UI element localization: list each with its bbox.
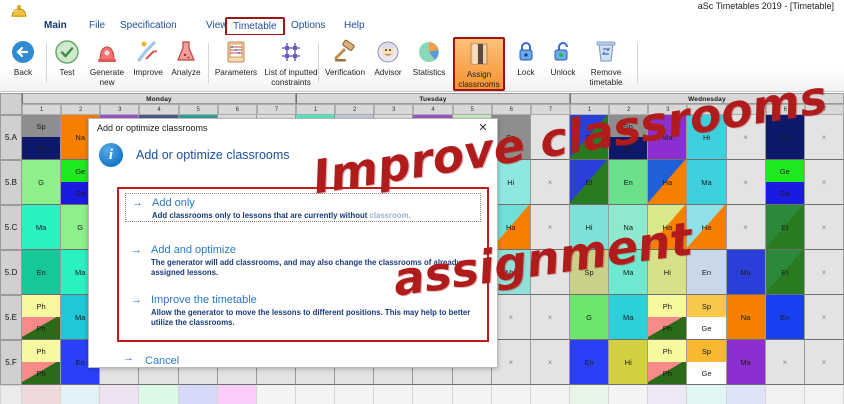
icon-wrap [167, 37, 205, 67]
empty-cell-marker: × [531, 340, 569, 384]
timetable-cell[interactable]: × [453, 385, 492, 404]
lesson-block[interactable]: Ph [766, 385, 804, 404]
timetable-cell[interactable]: × [335, 385, 374, 404]
timetable-cell[interactable]: × [805, 385, 844, 404]
app-title: aSc Timetables 2019 - [Timetable] [698, 1, 834, 11]
icon-wrap [455, 39, 503, 69]
dialog-title: Add or optimize classrooms [97, 123, 208, 133]
row-header-5-e: 5.E [0, 295, 22, 340]
menu-bar[interactable]: MainFileSpecificationViewTimetableOption… [0, 17, 844, 35]
arrow-icon: → [131, 245, 142, 256]
empty-cell-marker: × [531, 205, 569, 249]
lesson-block[interactable]: Hi [648, 250, 686, 294]
lesson-block[interactable]: Na [727, 295, 765, 339]
lock-open-icon [549, 38, 577, 66]
icon-wrap [508, 37, 544, 67]
icon-wrap [544, 37, 582, 67]
timetable-cell[interactable]: En [570, 340, 609, 385]
timetable-cell[interactable]: Et [766, 250, 805, 295]
period-header: 2 [609, 104, 648, 115]
icon-wrap [212, 37, 260, 67]
toolbar-button-label: Assign classrooms [455, 70, 503, 89]
add-or-optimize-classrooms-dialog[interactable]: Add or optimize classrooms ✕ i Add or op… [88, 118, 498, 368]
lesson-block[interactable]: En [61, 385, 99, 404]
toolbar-button-unlock[interactable]: Unlock [544, 37, 582, 91]
timetable-cell[interactable]: × [805, 295, 844, 340]
timetable-cell[interactable]: Ha [648, 205, 687, 250]
timetable-cell[interactable]: × [531, 205, 570, 250]
gavel-icon [331, 38, 359, 66]
icon-wrap [368, 37, 408, 67]
trash-icon [592, 38, 620, 66]
empty-cell-marker: × [453, 385, 491, 404]
menu-item-help[interactable]: Help [338, 18, 371, 34]
row-header-5-c: 5.C [0, 205, 22, 250]
period-header: 5 [727, 104, 766, 115]
day-header-tuesday: Tuesday [296, 93, 570, 104]
timetable-cell[interactable]: En [609, 160, 648, 205]
empty-cell-marker: × [609, 385, 647, 404]
timetable-cell[interactable]: Ge [570, 385, 609, 404]
lesson-block[interactable]: Ge [687, 362, 725, 384]
period-header: 4 [413, 104, 452, 115]
empty-cell-marker: × [805, 385, 843, 404]
lesson-block[interactable]: Ph [22, 340, 60, 362]
timetable-cell[interactable]: En [61, 385, 100, 404]
empty-cell-marker: × [492, 385, 530, 404]
lesson-block[interactable]: Hi [687, 115, 725, 159]
timetable-cell[interactable]: PhPh [648, 340, 687, 385]
siren-icon [93, 38, 121, 66]
empty-cell-marker: × [257, 385, 295, 404]
timetable-cell[interactable]: PhPh [22, 295, 61, 340]
timetable-cell[interactable]: Sp [100, 385, 139, 404]
app-window: aSc Timetables 2019 - [Timetable] MainFi… [0, 0, 844, 404]
period-header: 4 [687, 104, 726, 115]
timetable-cell[interactable]: Na [727, 295, 766, 340]
timetable-cell[interactable]: Ma [609, 295, 648, 340]
toolbar-separator [46, 43, 47, 83]
lesson-block[interactable]: Na [609, 205, 647, 249]
timetable-cell[interactable]: En [22, 250, 61, 295]
timetable-cell[interactable]: × [531, 160, 570, 205]
period-header: 3 [374, 104, 413, 115]
lesson-block[interactable]: Ma [609, 250, 647, 294]
lesson-block[interactable]: Ge [687, 317, 725, 339]
lesson-block[interactable]: So [179, 385, 217, 404]
toolbar-button-label: Remove timetable [582, 68, 630, 87]
timetable-cell[interactable]: × [531, 115, 570, 160]
timetable-cell[interactable]: Hi [687, 385, 726, 404]
timetable-cell[interactable]: Na [609, 205, 648, 250]
timetable-cell[interactable]: × [727, 205, 766, 250]
timetable-cell[interactable]: × [257, 385, 296, 404]
lesson-block[interactable]: Ge [766, 182, 804, 204]
row-header-6-a: 6.A [0, 385, 22, 404]
timetable-cell[interactable]: PhPh [22, 340, 61, 385]
lesson-block[interactable]: Ma [727, 340, 765, 384]
option-description: The generator will add classrooms, and m… [151, 258, 481, 278]
arrow-icon: → [132, 198, 143, 209]
option-title: Add only [152, 197, 480, 210]
lesson-block[interactable]: Ge [766, 160, 804, 182]
lesson-block[interactable]: Ph [648, 385, 686, 404]
toolbar-button-label: Unlock [544, 68, 582, 78]
timetable-cell[interactable]: × [413, 385, 452, 404]
period-header: 2 [335, 104, 374, 115]
lesson-block[interactable]: Ph [22, 385, 60, 404]
icon-wrap [582, 37, 630, 67]
timetable-cell[interactable]: Hi [570, 205, 609, 250]
toolbar-button-advisor[interactable]: Advisor [368, 37, 408, 91]
period-header: 3 [648, 104, 687, 115]
toolbar-button-statistics[interactable]: Statistics [408, 37, 450, 91]
escalator-icon [134, 38, 162, 66]
toolbar-separator [318, 43, 319, 83]
lesson-block[interactable]: Ph [648, 295, 686, 317]
lesson-block[interactable]: En [609, 160, 647, 204]
empty-cell-marker: × [766, 340, 804, 384]
timetable-cell[interactable]: PhPh [648, 295, 687, 340]
toolbar-button-label: Back [4, 68, 42, 78]
toolbar-button-improve[interactable]: Improve [129, 37, 167, 91]
lesson-block[interactable]: Et [570, 115, 608, 159]
timetable-cell[interactable]: Et [570, 115, 609, 160]
lesson-block[interactable]: Et [570, 160, 608, 204]
timetable-cell[interactable]: SpGe [687, 340, 726, 385]
empty-cell-marker: × [413, 385, 451, 404]
timetable-cell[interactable]: Hi [218, 385, 257, 404]
timetable-cell[interactable]: En [687, 250, 726, 295]
period-header: 6 [766, 104, 805, 115]
empty-cell-marker: × [805, 160, 843, 204]
grid-corner [0, 93, 22, 115]
timetable-cell[interactable]: SpSp [22, 115, 61, 160]
period-header: 5 [453, 104, 492, 115]
timetable-cell[interactable]: GeGe [766, 160, 805, 205]
timetable-cell[interactable]: × [296, 385, 335, 404]
option-title: Improve the timetable [151, 294, 481, 307]
timetable-cell[interactable]: × [805, 340, 844, 385]
timetable-cell[interactable]: G [22, 160, 61, 205]
lesson-block[interactable]: Sp [609, 137, 647, 159]
lesson-block[interactable]: Hi [687, 385, 725, 404]
back-arrow-icon [9, 38, 37, 66]
empty-cell-marker: × [531, 250, 569, 294]
icon-wrap [4, 37, 42, 67]
toolbar-button-label: Lock [508, 68, 544, 78]
timetable-cell[interactable]: Ma [22, 205, 61, 250]
timetable-cell[interactable]: × [531, 295, 570, 340]
period-header: 1 [22, 104, 61, 115]
lesson-block[interactable]: Sp [687, 340, 725, 362]
icon-wrap [50, 37, 84, 67]
option-description: Allow the generator to move the lessons … [151, 308, 481, 328]
timetable-cell[interactable]: So [179, 385, 218, 404]
menu-item-file[interactable]: File [83, 18, 111, 34]
advisor-face-icon [374, 38, 402, 66]
lesson-block[interactable]: En [570, 340, 608, 384]
lesson-block[interactable]: Et [766, 250, 804, 294]
lesson-block[interactable]: En [766, 115, 804, 159]
timetable-cell[interactable]: G [570, 295, 609, 340]
info-icon: i [99, 143, 123, 167]
option-description-dim: classroom. [370, 211, 411, 220]
timetable-cell[interactable]: En [766, 115, 805, 160]
icon-wrap [408, 37, 450, 67]
lesson-block[interactable]: Hi [609, 340, 647, 384]
empty-cell-marker: × [727, 115, 765, 159]
menu-item-specification[interactable]: Specification [114, 18, 183, 34]
toolbar-button-verification[interactable]: Verification [322, 37, 368, 91]
timetable-cell[interactable]: × [609, 385, 648, 404]
day-header-wednesday: Wednesday [570, 93, 844, 104]
dialog-option-improve-the-timetable[interactable]: →Improve the timetableAllow the generato… [125, 291, 481, 328]
timetable-cell[interactable]: SpGe [687, 295, 726, 340]
title-bar: aSc Timetables 2019 - [Timetable] [0, 0, 844, 16]
row-header-5-b: 5.B [0, 160, 22, 205]
toolbar-button-label: Improve [129, 68, 167, 78]
timetable-cell[interactable]: Et [766, 205, 805, 250]
toolbar-button-back[interactable]: Back [4, 37, 42, 91]
dialog-header: i Add or optimize classrooms [99, 143, 290, 167]
period-header: 7 [805, 104, 844, 115]
period-header: 6 [492, 104, 531, 115]
timetable-cell[interactable]: Mu [727, 250, 766, 295]
timetable-cell[interactable]: Ph [766, 385, 805, 404]
timetable-cell[interactable]: × [531, 340, 570, 385]
empty-cell-marker: × [805, 295, 843, 339]
lesson-block[interactable]: Hi [570, 205, 608, 249]
lesson-block[interactable]: Sp [22, 137, 60, 159]
timetable-cell[interactable]: × [531, 385, 570, 404]
toolbar-button-label: Generate new [85, 68, 129, 87]
lesson-block[interactable]: Ma [648, 115, 686, 159]
timetable-cell[interactable]: × [805, 160, 844, 205]
lesson-block[interactable]: Et [766, 205, 804, 249]
toolbar-button-parameters[interactable]: Parameters [212, 37, 260, 91]
empty-cell-marker: × [531, 115, 569, 159]
pie-chart-icon [415, 38, 443, 66]
lesson-block[interactable]: Ge [570, 385, 608, 404]
timetable-cell[interactable]: × [805, 250, 844, 295]
icon-wrap [260, 37, 322, 67]
empty-cell-marker: × [805, 205, 843, 249]
grid-nodes-icon [277, 38, 305, 66]
row-header-5-a: 5.A [0, 115, 22, 160]
lesson-block[interactable]: Sp [609, 115, 647, 137]
period-header: 3 [100, 104, 139, 115]
timetable-cell[interactable]: En [766, 295, 805, 340]
timetable-cell[interactable]: Ma [139, 385, 178, 404]
toolbar-button-analyze[interactable]: Analyze [167, 37, 205, 91]
lesson-block[interactable]: G [22, 160, 60, 204]
lesson-block[interactable]: Ph [648, 362, 686, 384]
period-header: 7 [257, 104, 296, 115]
dialog-option-add-only[interactable]: →Add onlyAdd classrooms only to lessons … [125, 193, 481, 222]
period-header: 1 [570, 104, 609, 115]
menu-item-options[interactable]: Options [285, 18, 331, 34]
lesson-block[interactable]: Ma [687, 160, 725, 204]
lesson-block[interactable]: En [766, 295, 804, 339]
timetable-cell[interactable]: SpSp [609, 115, 648, 160]
toolbar-button-lock[interactable]: Lock [508, 37, 544, 91]
empty-cell-marker: × [805, 250, 843, 294]
icon-wrap [129, 37, 167, 67]
classroom-door-icon [465, 40, 493, 68]
period-header: 5 [179, 104, 218, 115]
lesson-block[interactable]: Sp [100, 385, 138, 404]
toolbar-button-label: Statistics [408, 68, 450, 78]
flask-icon [172, 38, 200, 66]
timetable-cell[interactable]: × [766, 340, 805, 385]
lesson-block[interactable]: Ha [648, 160, 686, 204]
period-header: 6 [218, 104, 257, 115]
period-header: 7 [531, 104, 570, 115]
empty-cell-marker: × [805, 115, 843, 159]
lesson-block[interactable]: Sp [687, 295, 725, 317]
timetable-cell[interactable]: Ha [648, 160, 687, 205]
timetable-cell[interactable]: × [727, 115, 766, 160]
ribbon-toolbar: BackTestGenerate newImproveAnalyzeParame… [0, 35, 844, 92]
toolbar-button-generate-new[interactable]: Generate new [85, 37, 129, 91]
empty-cell-marker: × [727, 205, 765, 249]
period-header: 1 [296, 104, 335, 115]
lesson-block[interactable]: Ha [648, 205, 686, 249]
timetable-cell[interactable]: Ma [727, 340, 766, 385]
lesson-block[interactable]: G [570, 295, 608, 339]
timetable-cell[interactable]: Hi [609, 340, 648, 385]
lesson-block[interactable]: En [687, 250, 725, 294]
lesson-block[interactable]: Ha [687, 205, 725, 249]
timetable-cell[interactable]: Et [570, 160, 609, 205]
arrow-icon: → [123, 352, 134, 364]
dialog-heading: Add or optimize classrooms [136, 148, 290, 162]
timetable-cell[interactable]: Hi [687, 115, 726, 160]
lesson-block[interactable]: Sp [570, 250, 608, 294]
timetable-cell[interactable]: × [727, 160, 766, 205]
lesson-block[interactable]: Hi [218, 385, 256, 404]
icon-wrap [85, 37, 129, 67]
empty-cell-marker: × [374, 385, 412, 404]
lesson-block[interactable]: So [727, 385, 765, 404]
menu-item-main[interactable]: Main [38, 18, 73, 34]
lock-closed-icon [512, 38, 540, 66]
timetable-cell[interactable]: × [805, 205, 844, 250]
timetable-cell[interactable]: Ph [648, 385, 687, 404]
lesson-block[interactable]: Ph [648, 317, 686, 339]
timetable-cell[interactable]: × [805, 115, 844, 160]
toolbar-separator [208, 43, 209, 83]
check-circle-icon [53, 38, 81, 66]
timetable-cell[interactable]: × [492, 385, 531, 404]
lesson-block[interactable]: Ma [139, 385, 177, 404]
toolbar-button-label: Test [50, 68, 84, 78]
toolbar-button-label: Advisor [368, 68, 408, 78]
options-group: →Add onlyAdd classrooms only to lessons … [117, 187, 489, 342]
empty-cell-marker: × [335, 385, 373, 404]
lesson-block[interactable]: Mu [727, 250, 765, 294]
empty-cell-marker: × [727, 160, 765, 204]
cancel-button[interactable]: → Cancel [123, 351, 179, 369]
lesson-block[interactable]: Ma [22, 205, 60, 249]
day-header-monday: Monday [22, 93, 296, 104]
toolbar-button-label: Verification [322, 68, 368, 78]
empty-cell-marker: × [805, 340, 843, 384]
timetable-cell[interactable]: Ma [609, 250, 648, 295]
empty-cell-marker: × [531, 295, 569, 339]
empty-cell-marker: × [296, 385, 334, 404]
empty-cell-marker: × [531, 160, 569, 204]
lesson-block[interactable]: Ph [22, 362, 60, 384]
toolbar-button-label: Parameters [212, 68, 260, 78]
timetable-cell[interactable]: So [727, 385, 766, 404]
timetable-cell[interactable]: Sp [570, 250, 609, 295]
toolbar-button-label: List of inputted constraints [260, 68, 322, 87]
timetable-cell[interactable]: Ma [687, 160, 726, 205]
lesson-block[interactable]: Ph [648, 340, 686, 362]
toolbar-button-label: Analyze [167, 68, 205, 78]
lesson-block[interactable]: Ph [22, 317, 60, 339]
lesson-block[interactable]: Ma [609, 295, 647, 339]
lesson-block[interactable]: Sp [22, 115, 60, 137]
toolbar-button-list-of-inputted-constraints[interactable]: List of inputted constraints [260, 37, 322, 91]
timetable-cell[interactable]: × [531, 250, 570, 295]
period-header: 4 [139, 104, 178, 115]
option-description: Add classrooms only to lessons that are … [152, 211, 480, 221]
menu-item-timetable[interactable]: Timetable [225, 17, 285, 36]
toolbar-separator [637, 43, 638, 83]
empty-cell-marker: × [531, 385, 569, 404]
clipboard-icon [222, 38, 250, 66]
row-header-5-f: 5.F [0, 340, 22, 385]
lesson-block[interactable]: En [22, 250, 60, 294]
timetable-cell[interactable]: Ma [648, 115, 687, 160]
dialog-option-add-and-optimize[interactable]: →Add and optimizeThe generator will add … [125, 241, 481, 278]
toolbar-button-assign-classrooms[interactable]: Assign classrooms [453, 37, 505, 91]
row-header-5-d: 5.D [0, 250, 22, 295]
period-header: 2 [61, 104, 100, 115]
toolbar-button-remove-timetable[interactable]: Remove timetable [582, 37, 630, 91]
lesson-block[interactable]: Ph [22, 295, 60, 317]
timetable-cell[interactable]: Ha [687, 205, 726, 250]
icon-wrap [322, 37, 368, 67]
timetable-cell[interactable]: Ph [22, 385, 61, 404]
timetable-cell[interactable]: × [374, 385, 413, 404]
close-icon[interactable]: ✕ [475, 121, 491, 135]
toolbar-button-test[interactable]: Test [50, 37, 84, 91]
arrow-icon: → [131, 295, 142, 306]
cancel-label: Cancel [145, 355, 179, 367]
option-title: Add and optimize [151, 244, 481, 257]
timetable-cell[interactable]: Hi [648, 250, 687, 295]
